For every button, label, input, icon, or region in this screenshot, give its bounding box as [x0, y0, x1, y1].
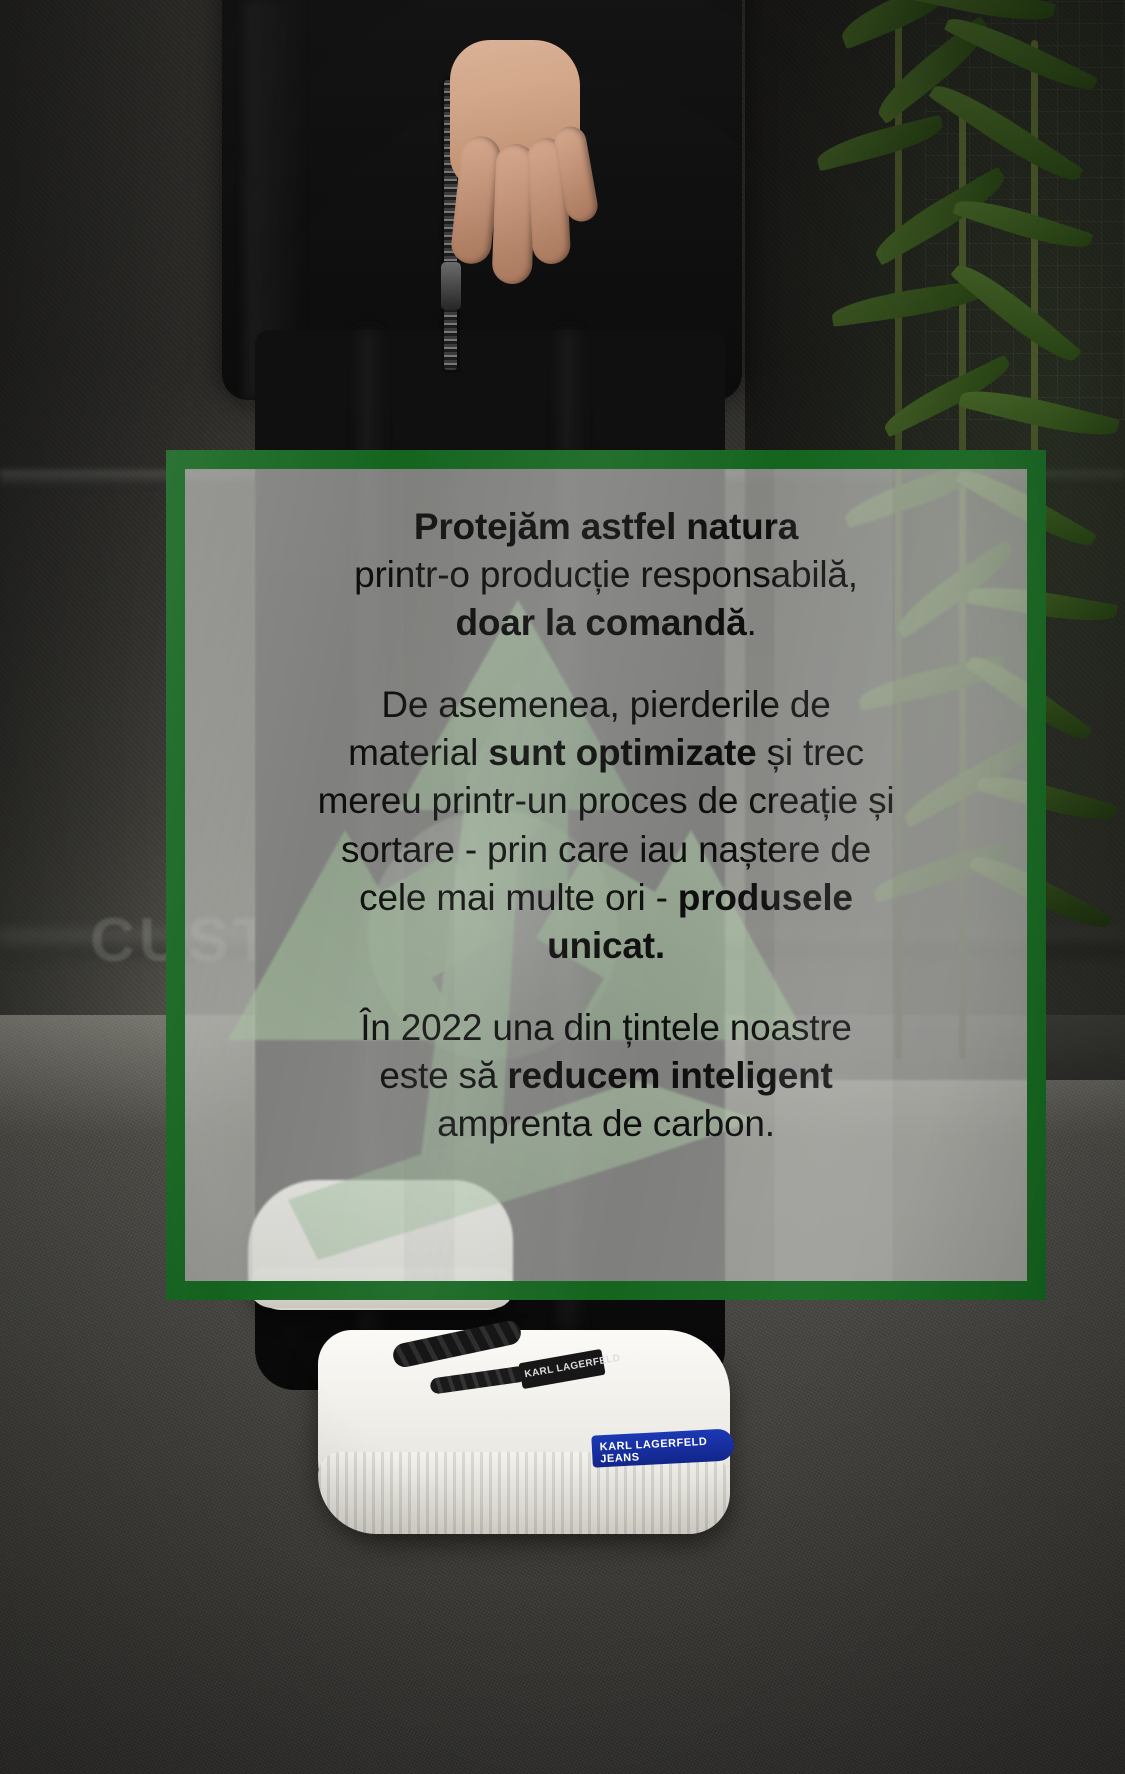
hand — [430, 40, 590, 300]
message-line: material sunt optimizate și trec — [348, 732, 864, 773]
message-line: mereu printr-un proces de creație și — [318, 780, 895, 821]
message-panel-inner: Protejăm astfel naturaprintr-o producție… — [185, 469, 1027, 1281]
message-line: cele mai multe ori - produsele — [359, 877, 853, 918]
message-run: și trec — [757, 732, 864, 773]
message-copy: Protejăm astfel naturaprintr-o producție… — [219, 503, 993, 1148]
message-run: amprenta de carbon. — [437, 1103, 775, 1144]
message-run: În 2022 una din țintele noastre — [360, 1007, 852, 1048]
paragraph-gap — [219, 647, 993, 681]
message-line: În 2022 una din țintele noastre — [360, 1007, 852, 1048]
message-panel: Protejăm astfel naturaprintr-o producție… — [166, 450, 1046, 1300]
message-line: De asemenea, pierderile de — [381, 684, 830, 725]
message-run: mereu printr-un proces de creație și — [318, 780, 895, 821]
message-run: sortare - prin care iau naștere de — [341, 829, 871, 870]
message-line: amprenta de carbon. — [437, 1103, 775, 1144]
message-line: doar la comandă. — [455, 602, 756, 643]
message-run: De asemenea, pierderile de — [381, 684, 830, 725]
message-run: cele mai multe ori - — [359, 877, 678, 918]
message-run: printr-o producție responsabilă, — [354, 554, 858, 595]
message-paragraph: În 2022 una din țintele noastreeste să r… — [219, 1004, 993, 1148]
sneaker-front-sole — [318, 1452, 730, 1534]
message-line: Protejăm astfel natura — [414, 506, 798, 547]
message-run: material — [348, 732, 488, 773]
message-line: unicat. — [547, 925, 665, 966]
message-run-bold: doar la comandă — [455, 602, 746, 643]
message-paragraph: De asemenea, pierderile dematerial sunt … — [219, 681, 993, 970]
message-run: este să — [379, 1055, 507, 1096]
message-run-bold: Protejăm astfel natura — [414, 506, 798, 547]
paragraph-gap — [219, 970, 993, 1004]
promo-graphic: CUSTOM — [0, 0, 1125, 1774]
message-run-bold: produsele — [678, 877, 853, 918]
message-line: sortare - prin care iau naștere de — [341, 829, 871, 870]
message-line: printr-o producție responsabilă, — [354, 554, 858, 595]
message-run-bold: sunt optimizate — [488, 732, 756, 773]
message-run-bold: unicat. — [547, 925, 665, 966]
message-paragraph: Protejăm astfel naturaprintr-o producție… — [219, 503, 993, 647]
message-run-bold: reducem inteligent — [507, 1055, 832, 1096]
message-line: este să reducem inteligent — [379, 1055, 832, 1096]
message-run: . — [746, 602, 756, 643]
